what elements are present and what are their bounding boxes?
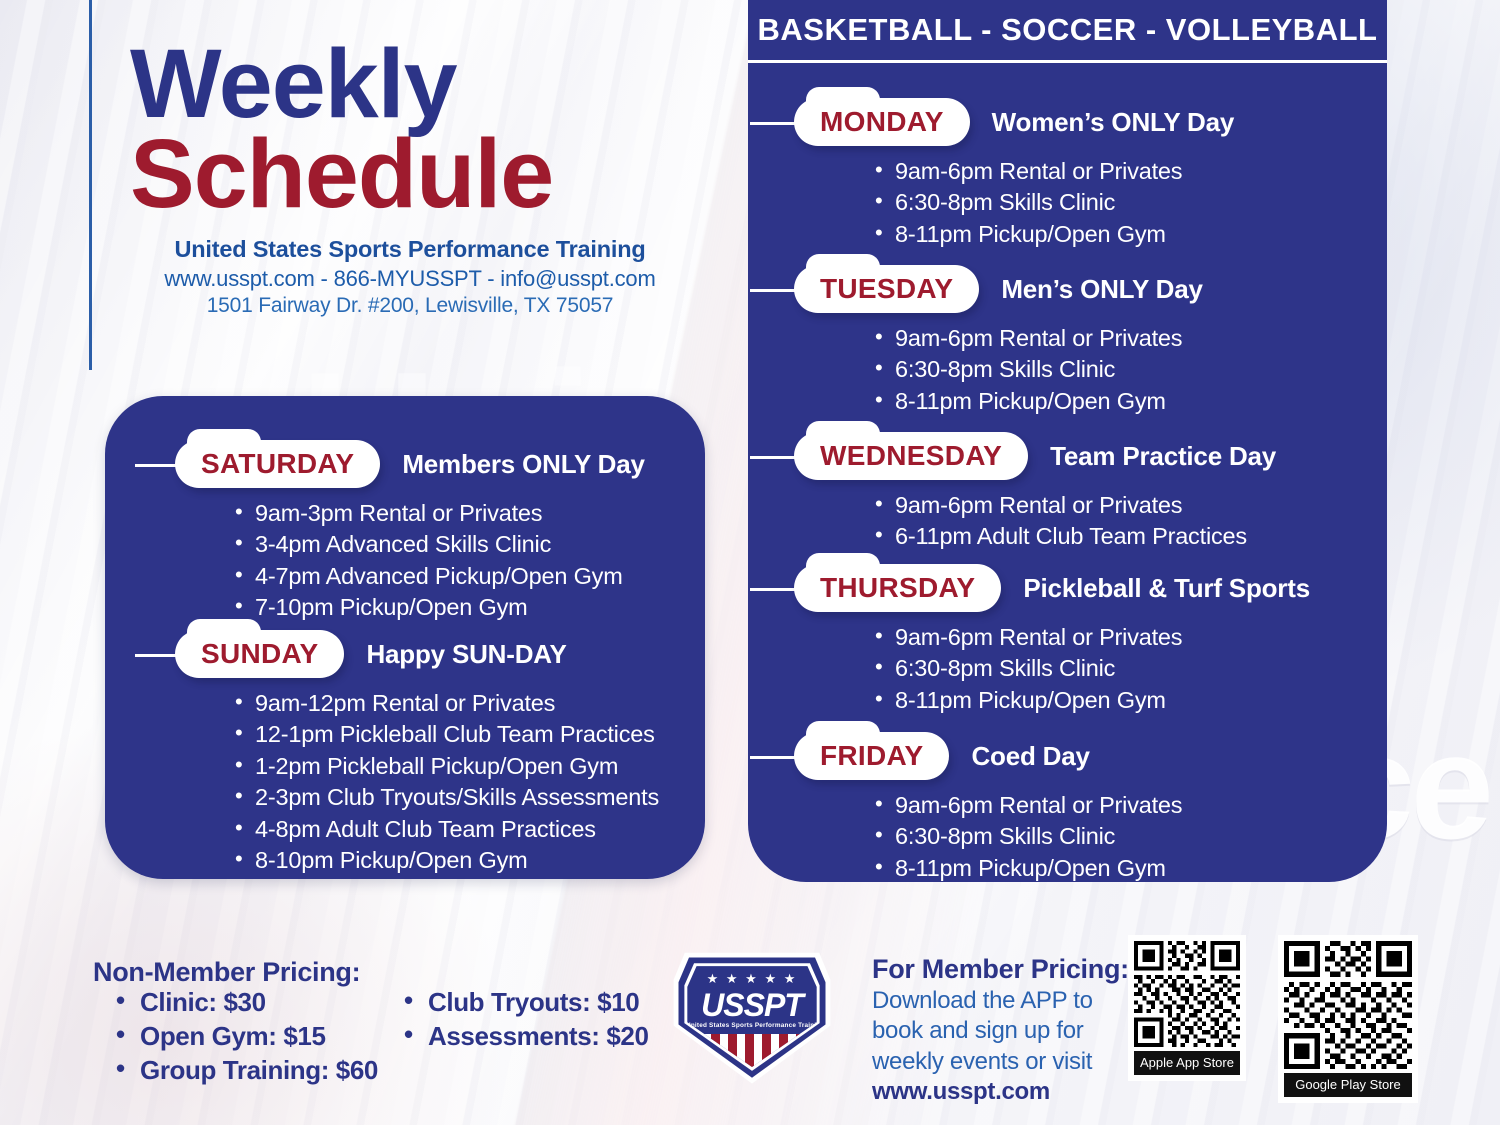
day-group-thursday: THURSDAYPickleball & Turf Sports9am-6pm … [748,562,1387,716]
price-item: Club Tryouts: $10 [400,986,649,1020]
time-slot: 1-2pm Pickleball Pickup/Open Gym [233,751,705,782]
time-slot: 6:30-8pm Skills Clinic [873,354,1387,385]
time-slot: 8-11pm Pickup/Open Gym [873,386,1387,417]
day-time-list: 9am-6pm Rental or Privates6:30-8pm Skill… [873,622,1387,716]
day-pill-saturday[interactable]: SATURDAY [175,440,380,488]
day-pill-label: THURSDAY [820,572,975,604]
title-block: Weekly Schedule United States Sports Per… [110,36,710,318]
day-theme-title: Pickleball & Turf Sports [1023,573,1310,604]
page-title-weekly: Weekly [130,36,710,131]
day-header: MONDAYWomen’s ONLY Day [794,96,1387,148]
day-pill-label: TUESDAY [820,273,953,305]
page-title-schedule: Schedule [130,125,710,224]
time-slot: 9am-12pm Rental or Privates [233,688,705,719]
day-pill-thursday[interactable]: THURSDAY [794,564,1001,612]
member-body-line-3: weekly events or visit [872,1047,1122,1077]
weekday-schedule-panel: BASKETBALL - SOCCER - VOLLEYBALL MONDAYW… [748,0,1387,882]
qr-code-google-icon [1284,941,1412,1069]
time-slot: 9am-3pm Rental or Privates [233,498,705,529]
day-group-sunday: SUNDAYHappy SUN-DAY9am-12pm Rental or Pr… [105,628,705,877]
organization-name: United States Sports Performance Trainin… [110,236,710,263]
time-slot: 8-11pm Pickup/Open Gym [873,219,1387,250]
address-line: 1501 Fairway Dr. #200, Lewisville, TX 75… [110,294,710,318]
day-group-friday: FRIDAYCoed Day9am-6pm Rental or Privates… [748,730,1387,884]
day-time-list: 9am-6pm Rental or Privates6:30-8pm Skill… [873,323,1387,417]
day-pill-tuesday[interactable]: TUESDAY [794,265,979,313]
nonmember-pricing-list-1: Clinic: $30Open Gym: $15Group Training: … [112,986,378,1087]
logo-wordmark: USSPT [686,987,818,1024]
day-time-list: 9am-12pm Rental or Privates12-1pm Pickle… [233,688,705,877]
member-body-line-1: Download the APP to [872,986,1122,1016]
time-slot: 4-8pm Adult Club Team Practices [233,814,705,845]
day-theme-title: Women’s ONLY Day [992,107,1234,138]
time-slot: 7-10pm Pickup/Open Gym [233,592,705,623]
day-group-tuesday: TUESDAYMen’s ONLY Day9am-6pm Rental or P… [748,263,1387,417]
left-vertical-rule [89,0,92,370]
member-pricing-body: Download the APP to book and sign up for… [872,986,1122,1108]
day-theme-title: Team Practice Day [1050,441,1276,472]
day-pill-monday[interactable]: MONDAY [794,98,970,146]
day-theme-title: Happy SUN-DAY [366,639,566,670]
day-pill-friday[interactable]: FRIDAY [794,732,949,780]
time-slot: 2-3pm Club Tryouts/Skills Assessments [233,782,705,813]
day-header: SATURDAYMembers ONLY Day [175,438,705,490]
time-slot: 8-10pm Pickup/Open Gym [233,845,705,876]
sports-banner-text: BASKETBALL - SOCCER - VOLLEYBALL [758,12,1378,48]
nonmember-pricing-heading: Non-Member Pricing: [93,957,360,988]
day-group-wednesday: WEDNESDAYTeam Practice Day9am-6pm Rental… [748,430,1387,553]
day-header: THURSDAYPickleball & Turf Sports [794,562,1387,614]
day-header: WEDNESDAYTeam Practice Day [794,430,1387,482]
day-pill-label: WEDNESDAY [820,440,1002,472]
weekend-schedule-panel: SATURDAYMembers ONLY Day9am-3pm Rental o… [105,396,705,879]
price-item: Assessments: $20 [400,1020,649,1054]
day-pill-wednesday[interactable]: WEDNESDAY [794,432,1028,480]
logo-stars-icon: ★ ★ ★ ★ ★ [686,971,818,987]
day-pill-label: SATURDAY [201,448,354,480]
day-header: SUNDAYHappy SUN-DAY [175,628,705,680]
time-slot: 9am-6pm Rental or Privates [873,790,1387,821]
qr-code-apple-icon [1134,941,1240,1047]
time-slot: 9am-6pm Rental or Privates [873,156,1387,187]
logo-tagline: United States Sports Performance Trainin… [686,1022,818,1029]
contact-line[interactable]: www.usspt.com - 866-MYUSSPT - info@usspt… [110,266,710,292]
sports-banner: BASKETBALL - SOCCER - VOLLEYBALL [748,0,1387,63]
nonmember-pricing-list-2: Club Tryouts: $10Assessments: $20 [400,986,649,1054]
day-theme-title: Members ONLY Day [402,449,644,480]
member-pricing-heading: For Member Pricing: [872,954,1129,985]
price-item: Clinic: $30 [112,986,378,1020]
time-slot: 3-4pm Advanced Skills Clinic [233,529,705,560]
day-pill-label: MONDAY [820,106,944,138]
price-item: Open Gym: $15 [112,1020,378,1054]
day-group-saturday: SATURDAYMembers ONLY Day9am-3pm Rental o… [105,438,705,624]
time-slot: 6:30-8pm Skills Clinic [873,821,1387,852]
time-slot: 4-7pm Advanced Pickup/Open Gym [233,561,705,592]
schedule-poster: Uni nce Weekly Schedule United States Sp… [0,0,1500,1125]
price-item: Group Training: $60 [112,1054,378,1088]
day-time-list: 9am-6pm Rental or Privates6-11pm Adult C… [873,490,1387,553]
qr-code-apple[interactable]: Apple App Store [1128,935,1246,1081]
day-time-list: 9am-3pm Rental or Privates3-4pm Advanced… [233,498,705,624]
day-theme-title: Coed Day [971,741,1089,772]
time-slot: 8-11pm Pickup/Open Gym [873,853,1387,884]
time-slot: 6:30-8pm Skills Clinic [873,187,1387,218]
time-slot: 9am-6pm Rental or Privates [873,323,1387,354]
day-theme-title: Men’s ONLY Day [1001,274,1202,305]
day-pill-sunday[interactable]: SUNDAY [175,630,344,678]
time-slot: 9am-6pm Rental or Privates [873,622,1387,653]
qr-code-google-label: Google Play Store [1284,1073,1412,1097]
member-website-link[interactable]: www.usspt.com [872,1077,1122,1107]
day-time-list: 9am-6pm Rental or Privates6:30-8pm Skill… [873,790,1387,884]
day-pill-label: FRIDAY [820,740,923,772]
qr-code-apple-label: Apple App Store [1134,1051,1240,1075]
time-slot: 6-11pm Adult Club Team Practices [873,521,1387,552]
logo-shield-core: ★ ★ ★ ★ ★ USSPT United States Sports Per… [686,964,818,1068]
time-slot: 8-11pm Pickup/Open Gym [873,685,1387,716]
time-slot: 9am-6pm Rental or Privates [873,490,1387,521]
time-slot: 12-1pm Pickleball Club Team Practices [233,719,705,750]
qr-code-google[interactable]: Google Play Store [1278,935,1418,1103]
day-header: FRIDAYCoed Day [794,730,1387,782]
day-group-monday: MONDAYWomen’s ONLY Day9am-6pm Rental or … [748,96,1387,250]
day-pill-label: SUNDAY [201,638,318,670]
member-body-line-2: book and sign up for [872,1016,1122,1046]
day-time-list: 9am-6pm Rental or Privates6:30-8pm Skill… [873,156,1387,250]
time-slot: 6:30-8pm Skills Clinic [873,653,1387,684]
usspt-logo: ★ ★ ★ ★ ★ USSPT United States Sports Per… [672,950,832,1085]
day-header: TUESDAYMen’s ONLY Day [794,263,1387,315]
